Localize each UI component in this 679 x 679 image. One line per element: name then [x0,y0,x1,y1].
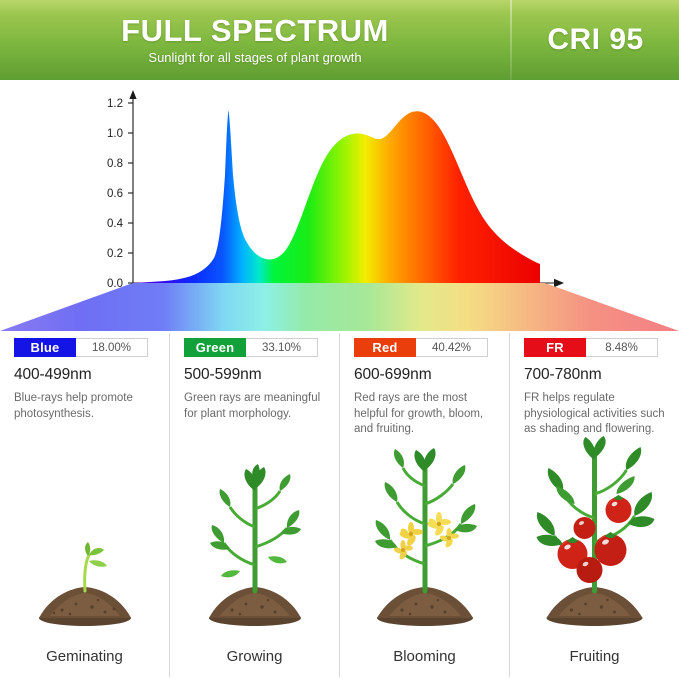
svg-text:0.8: 0.8 [107,158,123,170]
band-percent-red: 40.42% [416,339,487,356]
header-right-group: CRI 95 [512,0,679,80]
band-column-fr: FR 8.48% 700-780nm FR helps regulate phy… [510,331,679,679]
band-name-green: Green [184,338,246,357]
band-percent-blue: 18.00% [76,339,147,356]
band-name-blue: Blue [14,338,76,357]
svg-text:0.6: 0.6 [107,188,123,200]
band-name-red: Red [354,338,416,357]
band-range-fr: 700-780nm [524,366,665,384]
cri-value: CRI 95 [547,23,643,57]
band-column-green: Green 33.10% 500-599nm Green rays are me… [170,331,339,679]
band-percent-green: 33.10% [246,339,317,356]
band-name-fr: FR [524,338,586,357]
plant-illustration-blooming [340,451,509,631]
band-columns: Blue 18.00% 400-499nm Blue-rays help pro… [0,331,679,679]
stage-label-fruiting: Fruiting [510,648,679,665]
band-description-green: Green rays are meaningful for plant morp… [184,391,326,422]
spectral-power-area [133,110,540,283]
svg-text:0.2: 0.2 [107,248,123,260]
band-badge-fr: FR 8.48% [524,338,658,357]
svg-text:1.0: 1.0 [107,128,123,140]
band-percent-fr: 8.48% [586,339,657,356]
spectrum-fan-shape [0,283,679,331]
band-column-red: Red 40.42% 600-699nm Red rays are the mo… [340,331,509,679]
page-subtitle: Sunlight for all stages of plant growth [148,49,361,67]
svg-text:0.4: 0.4 [107,218,124,230]
stage-label-blooming: Blooming [340,648,509,665]
plant-illustration-seedling [0,451,169,631]
band-badge-red: Red 40.42% [354,338,488,357]
spectrum-infographic: FULL SPECTRUM Sunlight for all stages of… [0,0,679,679]
band-column-blue: Blue 18.00% 400-499nm Blue-rays help pro… [0,331,169,679]
band-description-fr: FR helps regulate physiological activiti… [524,391,666,438]
band-range-blue: 400-499nm [14,366,155,384]
page-title: FULL SPECTRUM [121,14,389,48]
band-badge-green: Green 33.10% [184,338,318,357]
spectrum-fan [0,283,679,331]
band-badge-blue: Blue 18.00% [14,338,148,357]
plant-illustration-growing [170,451,339,631]
stage-label-growing: Growing [170,648,339,665]
band-range-red: 600-699nm [354,366,495,384]
band-description-blue: Blue-rays help promote photosynthesis. [14,391,156,422]
plant-illustration-fruiting [510,451,679,631]
band-range-green: 500-599nm [184,366,325,384]
header-left-group: FULL SPECTRUM Sunlight for all stages of… [0,0,510,80]
svg-text:1.2: 1.2 [107,98,123,110]
band-description-red: Red rays are the most helpful for growth… [354,391,496,438]
stage-label-geminating: Geminating [0,648,169,665]
header-banner: FULL SPECTRUM Sunlight for all stages of… [0,0,679,80]
